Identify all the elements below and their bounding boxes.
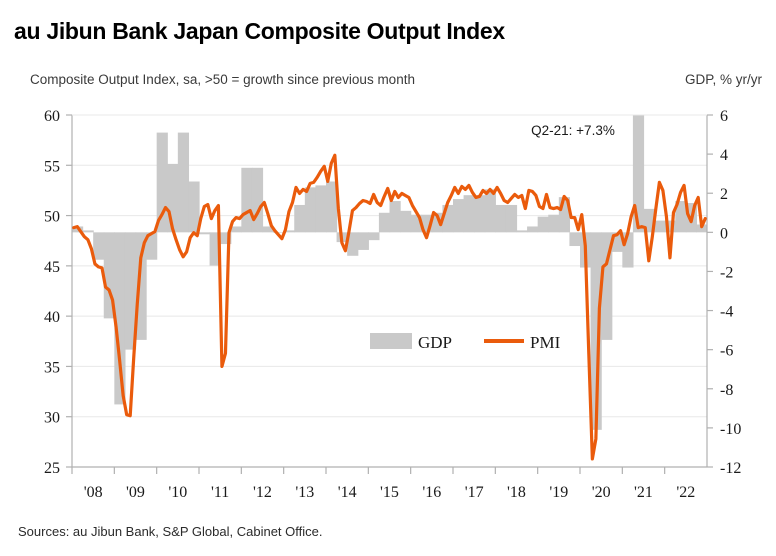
- gdp-bar: [93, 232, 104, 259]
- right-tick-label: 6: [720, 108, 728, 125]
- gdp-bar: [485, 189, 496, 232]
- bottom-tick-label: '09: [126, 484, 145, 501]
- bottom-tick-label: '17: [465, 484, 484, 501]
- left-tick-label: 30: [44, 410, 60, 427]
- bottom-tick-label: '12: [253, 484, 272, 501]
- right-tick-label: 4: [720, 147, 728, 164]
- gdp-bar: [495, 205, 506, 232]
- bottom-tick-label: '13: [295, 484, 314, 501]
- chart-legend: GDPPMI: [370, 333, 561, 352]
- gdp-bars-clipped: [72, 90, 708, 430]
- gdp-bar: [517, 230, 528, 232]
- bottom-axis-ticks: '08'09'10'11'12'13'14'15'16'17'18'19'20'…: [72, 467, 695, 501]
- gdp-bar: [464, 195, 475, 232]
- bottom-tick-label: '10: [168, 484, 187, 501]
- sources-note: Sources: au Jibun Bank, S&P Global, Cabi…: [18, 524, 322, 539]
- gdp-bar: [527, 226, 538, 232]
- gdp-bar: [199, 232, 210, 234]
- gdp-bar: [178, 133, 189, 233]
- gdp-bar: [654, 221, 665, 233]
- left-tick-label: 40: [44, 309, 60, 326]
- gdp-bar: [548, 215, 559, 233]
- legend-swatch-gdp: [370, 333, 412, 349]
- left-tick-label: 55: [44, 158, 60, 175]
- left-tick-label: 45: [44, 259, 60, 276]
- gdp-bar: [538, 217, 549, 233]
- right-tick-label: -6: [720, 343, 733, 360]
- bottom-tick-label: '18: [507, 484, 526, 501]
- gdp-bar: [506, 205, 517, 232]
- bottom-tick-label: '11: [211, 484, 229, 501]
- gdp-bar: [83, 230, 94, 232]
- left-tick-label: 50: [44, 209, 60, 226]
- gdp-bar: [241, 168, 252, 233]
- right-tick-label: -2: [720, 264, 733, 281]
- gdp-bar: [569, 232, 580, 246]
- gdp-bar: [252, 168, 263, 233]
- left-tick-label: 60: [44, 108, 60, 125]
- left-tick-label: 25: [44, 460, 60, 477]
- bottom-tick-label: '20: [592, 484, 611, 501]
- gdp-bar: [400, 211, 411, 233]
- gdp-bar: [294, 205, 305, 232]
- legend-label-pmi: PMI: [530, 333, 561, 352]
- gdp-bar: [358, 232, 369, 250]
- gdp-bars-group: [72, 90, 708, 430]
- gdp-bar: [474, 195, 485, 232]
- gdp-bar: [305, 187, 316, 232]
- gdp-bar: [167, 164, 178, 232]
- bottom-tick-label: '15: [380, 484, 399, 501]
- gdp-bar: [157, 133, 168, 233]
- legend-label-gdp: GDP: [418, 333, 452, 352]
- right-axis-ticks: -12-10-8-6-4-20246: [707, 108, 741, 477]
- gdp-bar: [315, 185, 326, 232]
- bottom-tick-label: '22: [676, 484, 695, 501]
- gdp-bar: [390, 201, 401, 232]
- right-tick-label: 2: [720, 186, 728, 203]
- right-tick-label: -8: [720, 382, 733, 399]
- chart-container: au Jibun Bank Japan Composite Output Ind…: [0, 0, 776, 556]
- right-tick-label: -4: [720, 304, 733, 321]
- right-tick-label: -10: [720, 421, 741, 438]
- bottom-tick-label: '14: [338, 484, 357, 501]
- bottom-tick-label: '21: [634, 484, 653, 501]
- gdp-bar: [231, 226, 242, 232]
- left-tick-label: 35: [44, 359, 60, 376]
- bottom-tick-label: '16: [422, 484, 441, 501]
- annotation-group: Q2-21: +7.3%: [531, 123, 615, 138]
- bottom-tick-label: '08: [84, 484, 103, 501]
- chart-plot-area: 2530354045505560 -12-10-8-6-4-20246 '08'…: [0, 0, 776, 556]
- right-tick-label: 0: [720, 225, 728, 242]
- gdp-bar: [453, 199, 464, 232]
- left-axis-ticks: 2530354045505560: [44, 108, 72, 477]
- gdp-bar: [379, 213, 390, 233]
- gdp-bar: [368, 232, 379, 240]
- right-tick-label: -12: [720, 460, 741, 477]
- bottom-tick-label: '19: [549, 484, 568, 501]
- annotation-label: Q2-21: +7.3%: [531, 123, 615, 138]
